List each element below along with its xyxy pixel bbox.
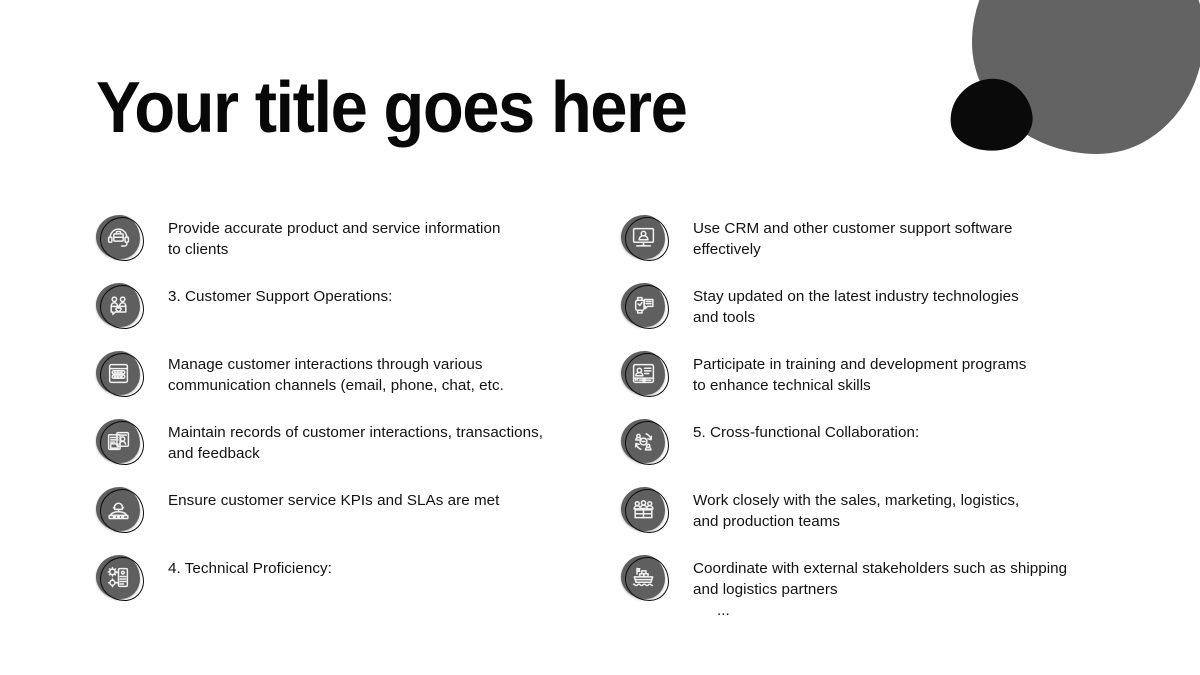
badge-outline — [625, 217, 669, 261]
list-item-label: Maintain records of customer interaction… — [168, 418, 596, 464]
list-item-label: Use CRM and other customer support softw… — [693, 214, 1121, 260]
badge-headset-briefcase — [96, 215, 143, 262]
badge-outline — [100, 557, 144, 601]
list-item-label: Manage customer interactions through var… — [168, 350, 596, 396]
list-item-label: Work closely with the sales, marketing, … — [693, 486, 1121, 532]
badge-support-agent-desk — [96, 487, 143, 534]
badge-people-heart-support — [96, 283, 143, 330]
gray-blob-shape — [972, 0, 1200, 154]
list-item: Use CRM and other customer support softw… — [621, 214, 1121, 282]
list-item-label: Stay updated on the latest industry tech… — [693, 282, 1121, 328]
list-item: 5. Cross-functional Collaboration: — [621, 418, 1121, 486]
list-item: 3. Customer Support Operations: — [96, 282, 596, 350]
list-item: Stay updated on the latest industry tech… — [621, 282, 1121, 350]
list-item-label: 4. Technical Proficiency: — [168, 554, 596, 579]
badge-outline — [100, 353, 144, 397]
badge-gears-technical — [96, 555, 143, 602]
page-title: Your title goes here — [96, 72, 686, 144]
badge-outline — [100, 489, 144, 533]
badge-crm-monitor — [621, 215, 668, 262]
list-item-label: Ensure customer service KPIs and SLAs ar… — [168, 486, 596, 511]
left-column: Provide accurate product and service inf… — [96, 214, 596, 622]
badge-training-video — [621, 351, 668, 398]
list-item-label: Provide accurate product and service inf… — [168, 214, 596, 260]
list-item: Coordinate with external stakeholders su… — [621, 554, 1121, 604]
list-item-label: Coordinate with external stakeholders su… — [693, 554, 1121, 600]
badge-smartwatch-tech — [621, 283, 668, 330]
badge-outline — [625, 489, 669, 533]
decoration-group — [940, 0, 1200, 200]
list-item: Work closely with the sales, marketing, … — [621, 486, 1121, 554]
right-column: Use CRM and other customer support softw… — [621, 214, 1121, 621]
list-item: Participate in training and development … — [621, 350, 1121, 418]
list-item: 4. Technical Proficiency: — [96, 554, 596, 622]
list-item-label: Participate in training and development … — [693, 350, 1121, 396]
badge-collaboration-cycle — [621, 419, 668, 466]
badge-outline — [100, 285, 144, 329]
badge-outline — [625, 421, 669, 465]
list-item: Manage customer interactions through var… — [96, 350, 596, 418]
badge-outline — [625, 285, 669, 329]
badge-outline — [100, 217, 144, 261]
badge-team-group — [621, 487, 668, 534]
badge-outline — [625, 557, 669, 601]
list-item-label: 5. Cross-functional Collaboration: — [693, 418, 1121, 443]
list-item: Provide accurate product and service inf… — [96, 214, 596, 282]
badge-records-document — [96, 419, 143, 466]
list-item: Maintain records of customer interaction… — [96, 418, 596, 486]
list-item-label: 3. Customer Support Operations: — [168, 282, 596, 307]
list-item: Ensure customer service KPIs and SLAs ar… — [96, 486, 596, 554]
slide-canvas: Your title goes here Provid — [0, 0, 1200, 675]
badge-cargo-ship — [621, 555, 668, 602]
badge-outline — [625, 353, 669, 397]
black-blob-shape — [945, 74, 1036, 157]
badge-outline — [100, 421, 144, 465]
badge-server-list — [96, 351, 143, 398]
